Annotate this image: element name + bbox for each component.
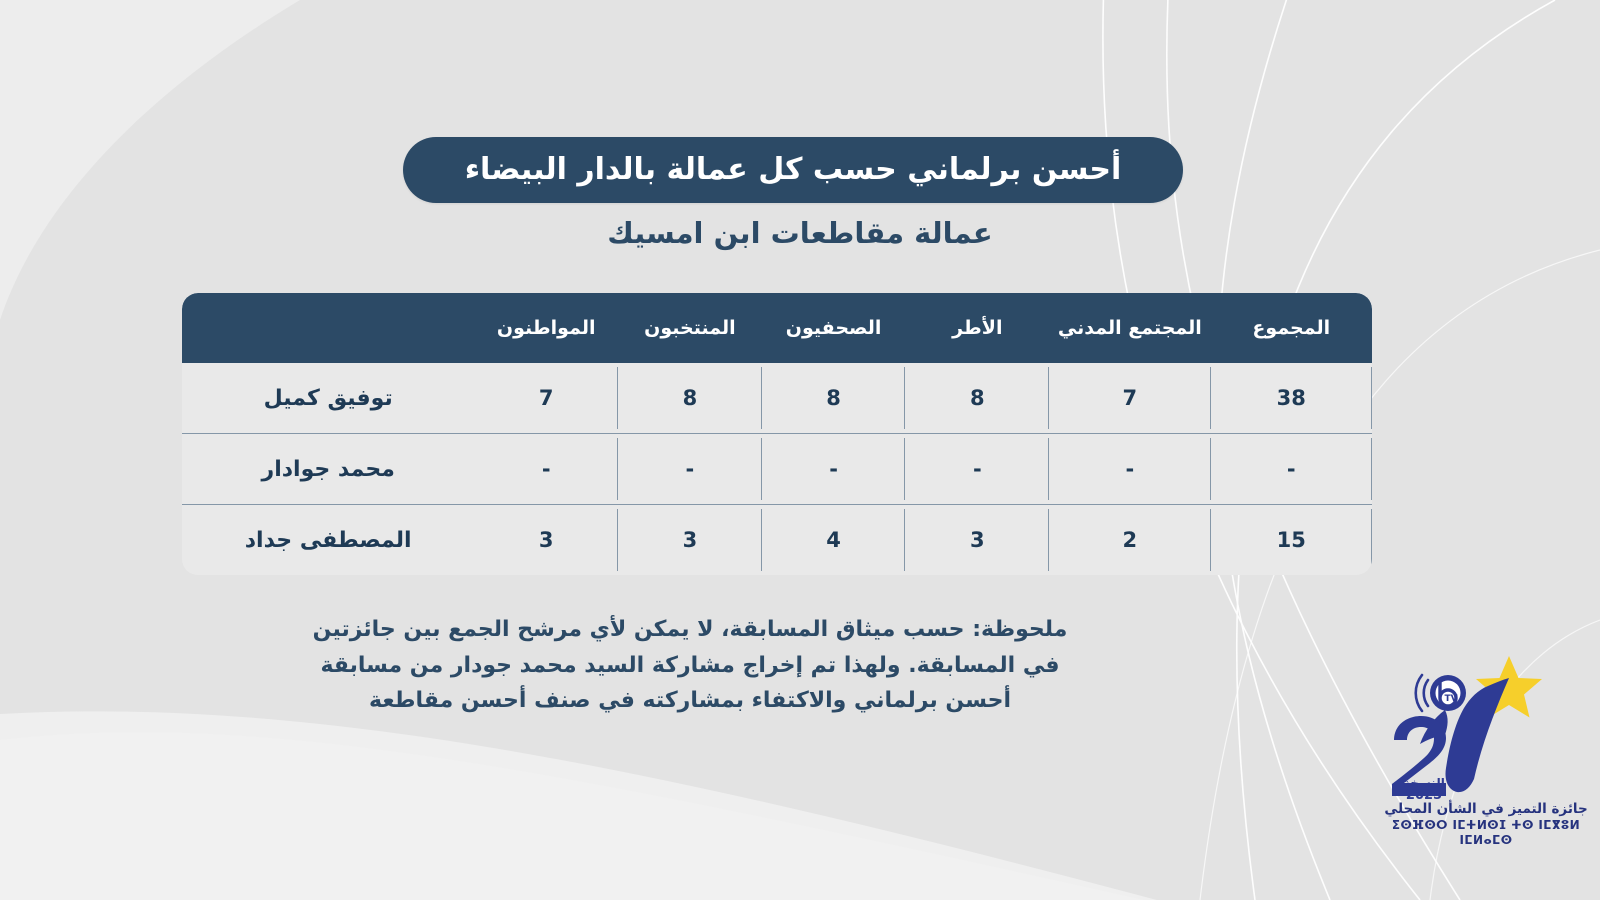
column-header-civil-society: المجتمع المدني <box>1049 293 1210 363</box>
cell-civil-society: - <box>1049 434 1210 504</box>
award-logo-mark: TV النسخة 2025 <box>1378 648 1594 800</box>
column-header-elected: المنتخبون <box>618 293 762 363</box>
cell-citizens: - <box>474 434 618 504</box>
footnote-label: ملحوظة: <box>972 617 1067 642</box>
logo-caption-arabic: جائزة التميز في الشأن المحلي <box>1378 801 1594 818</box>
cell-journalists: 8 <box>762 363 906 433</box>
column-header-executives: الأطر <box>905 293 1049 363</box>
column-header-citizens: المواطنون <box>474 293 618 363</box>
cell-citizens: 7 <box>474 363 618 433</box>
table-body: توفيق كميل 7 8 8 8 7 38 محمد جوادار - - … <box>182 363 1372 575</box>
footnote: ملحوظة: حسب ميثاق المسابقة، لا يمكن لأي … <box>180 612 1200 719</box>
table-row: توفيق كميل 7 8 8 8 7 38 <box>182 363 1372 433</box>
cell-total: - <box>1211 434 1372 504</box>
tv-badge-label: TV <box>1444 694 1457 704</box>
cell-journalists: 4 <box>762 505 906 575</box>
footnote-line-1: ملحوظة: حسب ميثاق المسابقة، لا يمكن لأي … <box>180 612 1200 648</box>
cell-journalists: - <box>762 434 906 504</box>
award-logo: TV النسخة 2025 جائزة التميز في الشأن الم… <box>1378 648 1594 860</box>
cell-executives: 3 <box>905 505 1049 575</box>
cell-executives: - <box>905 434 1049 504</box>
page-subtitle: عمالة مقاطعات ابن امسيك <box>0 216 1600 250</box>
cell-total: 38 <box>1211 363 1372 433</box>
table-row: المصطفى جداد 3 3 4 3 2 15 <box>182 504 1372 575</box>
logo-caption-tifinagh: ⵉⵙⴼⵙⵔ ⵏⵎⵜⵍⵙⵊ ⵜⵙ ⵏⵎⴳⵓⵍ ⵏⵎⵍⴰⵎⵙ <box>1378 818 1594 848</box>
footnote-line-1-text: حسب ميثاق المسابقة، لا يمكن لأي مرشح الج… <box>313 617 973 642</box>
table-header-row: المواطنون المنتخبون الصحفيون الأطر المجت… <box>182 293 1372 363</box>
cell-civil-society: 7 <box>1049 363 1210 433</box>
cell-name: المصطفى جداد <box>182 505 474 575</box>
cell-elected: 8 <box>618 363 762 433</box>
cell-citizens: 3 <box>474 505 618 575</box>
cell-elected: 3 <box>618 505 762 575</box>
cell-total: 15 <box>1211 505 1372 575</box>
cell-name: محمد جوادار <box>182 434 474 504</box>
cell-name: توفيق كميل <box>182 363 474 433</box>
footnote-line-2: في المسابقة. ولهذا تم إخراج مشاركة السيد… <box>180 648 1200 684</box>
edition-year-label: 2025 <box>1406 788 1442 800</box>
column-header-journalists: الصحفيون <box>762 293 906 363</box>
signal-arcs-icon <box>1416 675 1428 711</box>
page-title: أحسن برلماني حسب كل عمالة بالدار البيضاء <box>465 155 1122 185</box>
cell-elected: - <box>618 434 762 504</box>
results-table: المواطنون المنتخبون الصحفيون الأطر المجت… <box>182 293 1372 575</box>
table-row: محمد جوادار - - - - - - <box>182 433 1372 504</box>
column-header-total: المجموع <box>1211 293 1372 363</box>
column-header-name <box>182 293 474 363</box>
footnote-line-3: أحسن برلماني والاكتفاء بمشاركته في صنف أ… <box>180 683 1200 719</box>
page-title-pill: أحسن برلماني حسب كل عمالة بالدار البيضاء <box>403 137 1183 203</box>
cell-executives: 8 <box>905 363 1049 433</box>
cell-civil-society: 2 <box>1049 505 1210 575</box>
